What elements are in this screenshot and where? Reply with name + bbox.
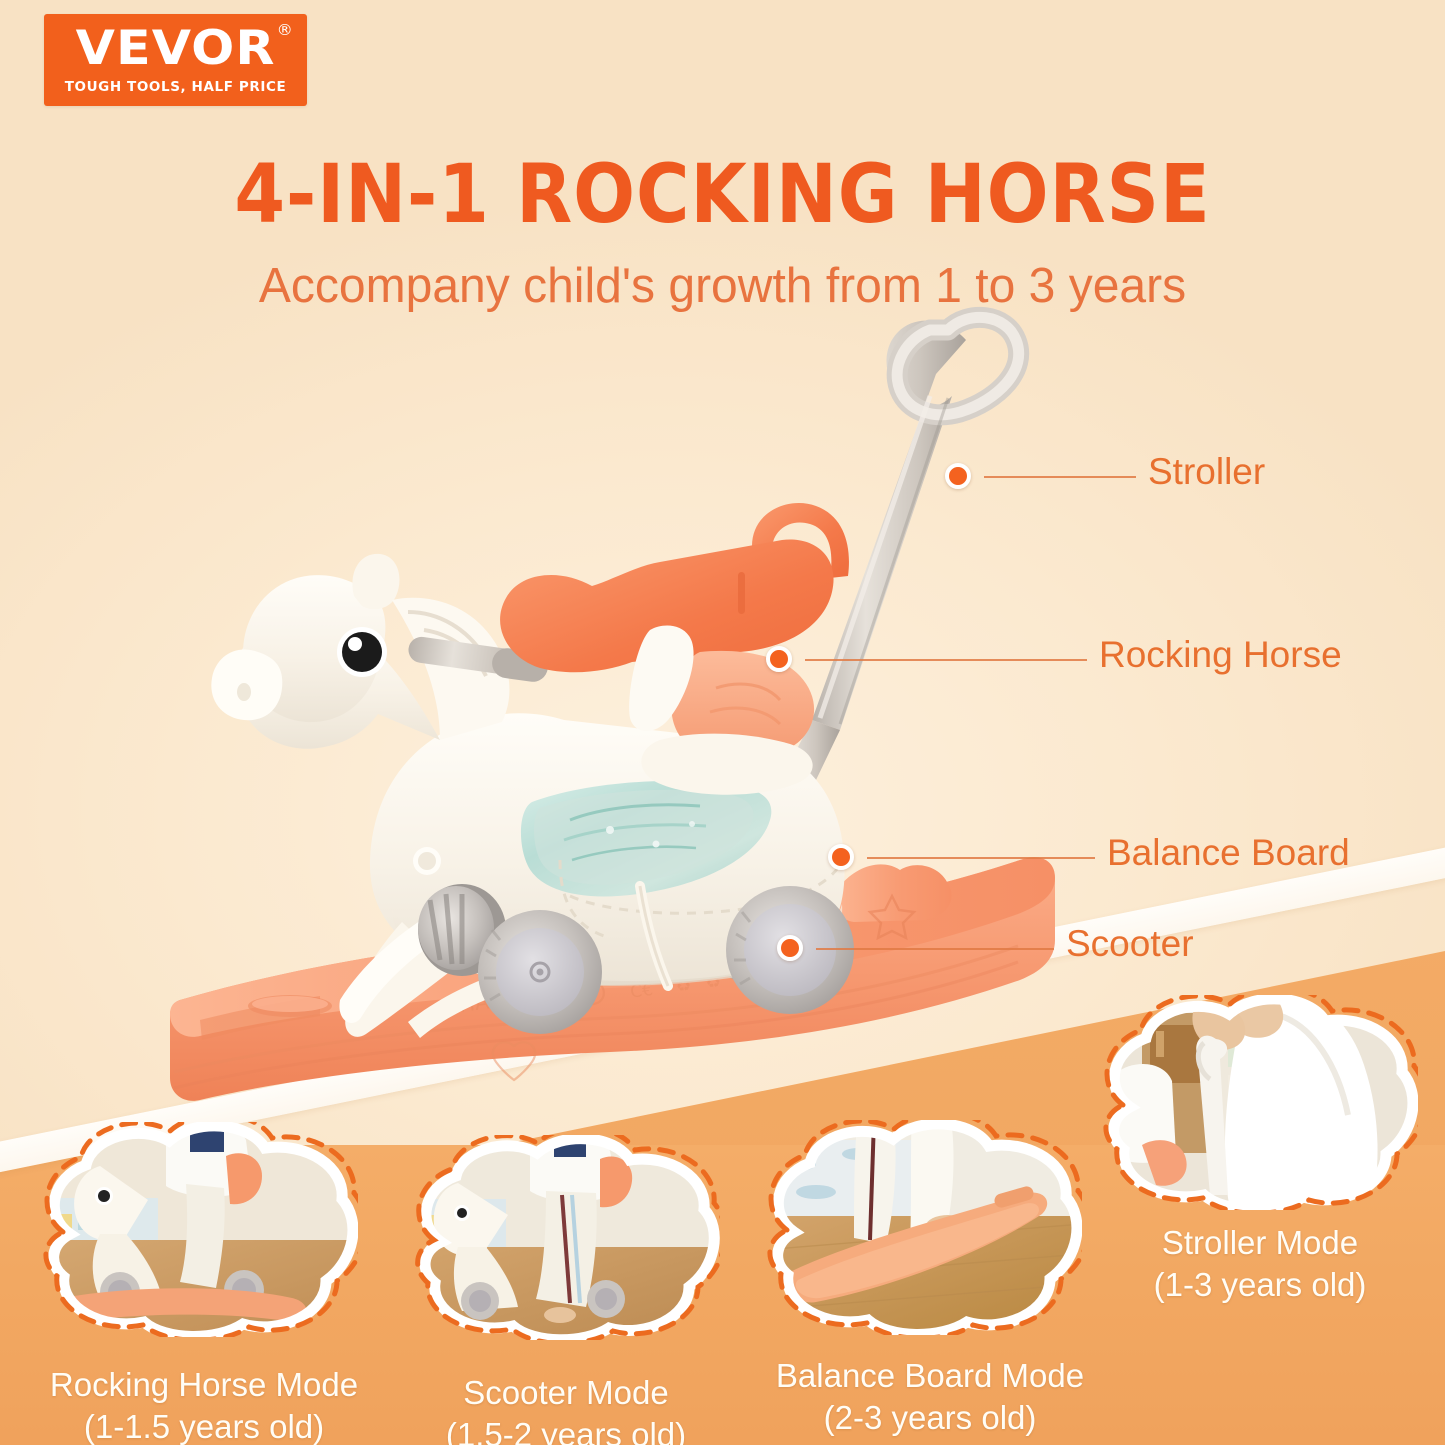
callout-dot[interactable] xyxy=(777,935,803,961)
caption-title: Balance Board Mode xyxy=(776,1357,1084,1394)
callout-line xyxy=(984,476,1136,478)
caption-rocking-horse-mode: Rocking Horse Mode (1-1.5 years old) xyxy=(24,1364,384,1445)
thumbnail-balance-board-mode[interactable] xyxy=(762,1120,1082,1335)
caption-title: Scooter Mode xyxy=(463,1374,668,1411)
caption-title: Rocking Horse Mode xyxy=(50,1366,358,1403)
callout-label: Stroller xyxy=(1148,451,1265,493)
brand-name: VEVOR® xyxy=(75,25,275,72)
callout-line xyxy=(816,948,1054,950)
thumbnail-cloud-border xyxy=(410,1135,720,1340)
callout-dot[interactable] xyxy=(945,463,971,489)
thumbnail-cloud-border xyxy=(762,1120,1082,1335)
product-illustration: HAPPY C€ ♻ ♻ xyxy=(140,300,1140,1120)
caption-age: (1-3 years old) xyxy=(1086,1264,1434,1306)
caption-age: (1-1.5 years old) xyxy=(24,1406,384,1445)
vevor-logo: VEVOR® TOUGH TOOLS, HALF PRICE xyxy=(44,14,307,106)
thumbnail-cloud-border xyxy=(38,1122,358,1337)
callout-label: Balance Board xyxy=(1107,832,1350,874)
infographic-canvas: VEVOR® TOUGH TOOLS, HALF PRICE 4-IN-1 RO… xyxy=(0,0,1445,1445)
caption-stroller-mode: Stroller Mode (1-3 years old) xyxy=(1086,1222,1434,1306)
thumbnail-cloud-border xyxy=(1098,995,1418,1210)
page-title: 4-IN-1 ROCKING HORSE xyxy=(72,148,1373,242)
brand-tagline: TOUGH TOOLS, HALF PRICE xyxy=(65,79,287,95)
callout-line xyxy=(867,857,1095,859)
callout-label: Rocking Horse xyxy=(1099,634,1342,676)
caption-age: (2-3 years old) xyxy=(745,1397,1115,1439)
thumbnail-scooter-mode[interactable] xyxy=(410,1135,720,1340)
caption-scooter-mode: Scooter Mode (1.5-2 years old) xyxy=(401,1372,731,1445)
thumbnail-rocking-horse-mode[interactable] xyxy=(38,1122,358,1337)
callout-dot[interactable] xyxy=(766,646,792,672)
callout-line xyxy=(805,659,1087,661)
caption-age: (1.5-2 years old) xyxy=(401,1414,731,1445)
caption-title: Stroller Mode xyxy=(1162,1224,1358,1261)
caption-balance-board-mode: Balance Board Mode (2-3 years old) xyxy=(745,1355,1115,1439)
callout-dot[interactable] xyxy=(828,844,854,870)
registered-trademark-icon: ® xyxy=(277,23,294,38)
thumbnail-stroller-mode[interactable] xyxy=(1098,995,1418,1210)
callout-label: Scooter xyxy=(1066,923,1194,965)
